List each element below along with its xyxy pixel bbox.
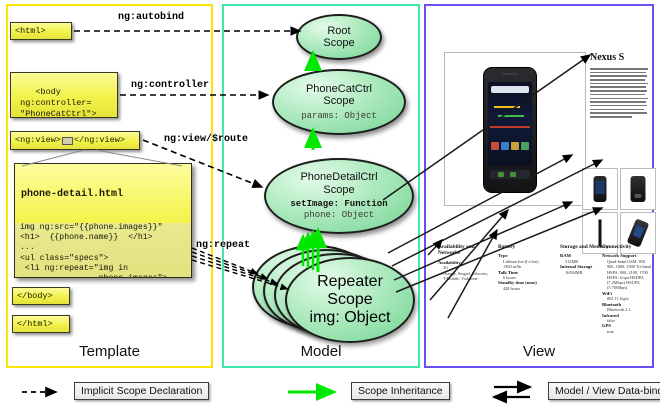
phone-nav-button-2	[510, 172, 516, 177]
scope-repeater: Repeater Scope img: Object	[285, 257, 415, 343]
phone-nav-bar	[490, 170, 530, 179]
phone-detail-code: img ng:src="{{phone.images}}" <h1> {{pho…	[15, 223, 191, 278]
label-ng-view-route: ng:view/$route	[164, 134, 248, 145]
label-ng-repeat: ng:repeat	[196, 240, 250, 251]
code-body-open: <body ng:controller= "PhoneCatCtrl">	[10, 72, 118, 118]
specs-3-row-0-value-0: Quad-band GSM: 850, 900, 1800, 1900 Tri-…	[602, 259, 652, 291]
specs-table: Availability and Networks Availability 3…	[438, 244, 652, 324]
code-ngview-open-text: <ng:view>	[15, 135, 61, 146]
phone-nav-button-1	[498, 172, 504, 177]
model-panel-label: Model	[224, 343, 418, 360]
label-ng-autobind: ng:autobind	[118, 12, 184, 23]
phone-screen-line-2	[498, 115, 524, 117]
view-panel-label: View	[426, 343, 652, 360]
code-phone-detail-callout: phone-detail.html img ng:src="{{phone.im…	[14, 163, 192, 278]
specs-0-row-0-value-1: Orange, Singtel, Telecom, T-Mobile, Voda…	[438, 271, 488, 282]
thumbnail-1[interactable]	[582, 168, 618, 210]
scope-phonecatctrl-name2: Scope	[323, 95, 354, 107]
code-html-close: </html>	[12, 315, 70, 333]
code-ngview: <ng:view></ng:view>	[10, 131, 140, 150]
code-html-close-text: </html>	[17, 319, 53, 330]
scope-root: Root Scope	[296, 14, 382, 60]
specs-column-1: Battery Type Lithium Ion (Li-Ion) 1500 m…	[498, 244, 568, 291]
legend-item-2-label: Model / View Data-binding	[548, 382, 660, 400]
legend-item-1-label: Scope Inheritance	[351, 382, 450, 400]
scope-phonedetailctrl-name1: PhoneDetailCtrl	[300, 171, 377, 183]
model-panel: Model Root Scope PhoneCatCtrl Scope para…	[222, 4, 420, 368]
article-title: Nexus S	[590, 52, 624, 63]
label-ng-controller: ng:controller	[131, 80, 209, 91]
specs-column-0-header: Availability and Networks	[438, 244, 488, 257]
phone-app-icon-1	[491, 142, 499, 150]
diagram-canvas: Template <html> <body ng:controller= "Ph…	[0, 0, 660, 420]
scope-phonecatctrl-attr-0: params: Object	[301, 111, 377, 122]
code-html-open: <html>	[10, 22, 72, 40]
scope-phonecatctrl-name1: PhoneCatCtrl	[306, 83, 372, 95]
phone-screen-line-3	[490, 126, 530, 128]
scope-root-name2: Scope	[323, 37, 354, 49]
phone-app-icon-3	[511, 142, 519, 150]
specs-column-3: Connectivity Network Support Quad-band G…	[602, 244, 652, 334]
specs-column-0: Availability and Networks Availability 3…	[438, 244, 488, 281]
scope-phonedetailctrl-attr-0: setImage: Function	[290, 199, 387, 210]
specs-column-3-header: Connectivity	[602, 244, 652, 250]
scope-repeater-name2: Scope	[327, 291, 372, 308]
code-ngview-close-text: </ng:view>	[74, 135, 125, 146]
legend-item-1: Scope Inheritance	[288, 376, 450, 406]
phone-app-dock	[490, 142, 530, 156]
scope-root-name1: Root	[327, 25, 350, 37]
article-body	[590, 68, 648, 120]
specs-1-row-2-value-0: 428 hours	[498, 286, 568, 291]
phone-hero-image	[483, 67, 537, 193]
phone-hero-image-frame	[444, 52, 586, 206]
ngview-slot-icon	[62, 137, 73, 145]
scope-phonedetailctrl-name2: Scope	[323, 184, 354, 196]
rendered-page: Nexus S Availability and Networks Availa…	[432, 16, 648, 336]
legend-item-0-label: Implicit Scope Declaration	[74, 382, 209, 400]
code-body-close: </body>	[12, 287, 70, 305]
scope-repeater-name1: Repeater	[317, 273, 383, 290]
phone-speaker-icon	[502, 73, 518, 75]
phone-screen-line-1	[494, 106, 520, 108]
thumbnail-2[interactable]	[620, 168, 656, 210]
template-panel-label: Template	[8, 343, 211, 360]
scope-phonedetailctrl: PhoneDetailCtrl Scope setImage: Function…	[264, 158, 414, 234]
scope-repeater-attr-0: img: Object	[310, 309, 391, 327]
view-panel: View	[424, 4, 654, 368]
phone-detail-filename: phone-detail.html	[15, 186, 191, 201]
specs-3-row-4-value-0: true	[602, 329, 652, 334]
scope-repeater-stack: Repeater Scope img: Object	[252, 243, 412, 339]
scope-phonedetailctrl-attr-1: phone: Object	[304, 210, 374, 221]
legend: Implicit Scope Declaration Scope Inherit…	[0, 376, 660, 418]
code-body-close-text: </body>	[17, 291, 53, 302]
legend-item-2: Model / View Data-binding	[494, 376, 660, 406]
code-body-open-text: <body ng:controller= "PhoneCatCtrl">	[15, 87, 97, 119]
specs-column-1-header: Battery	[498, 244, 568, 250]
phone-app-icon-4	[521, 142, 529, 150]
phone-screen	[488, 82, 532, 166]
phone-app-icon-2	[501, 142, 509, 150]
scope-phonecatctrl: PhoneCatCtrl Scope params: Object	[272, 69, 406, 135]
legend-item-0: Implicit Scope Declaration	[22, 376, 209, 406]
phone-search-bar-icon	[491, 86, 529, 93]
code-html-open-text: <html>	[15, 26, 46, 37]
